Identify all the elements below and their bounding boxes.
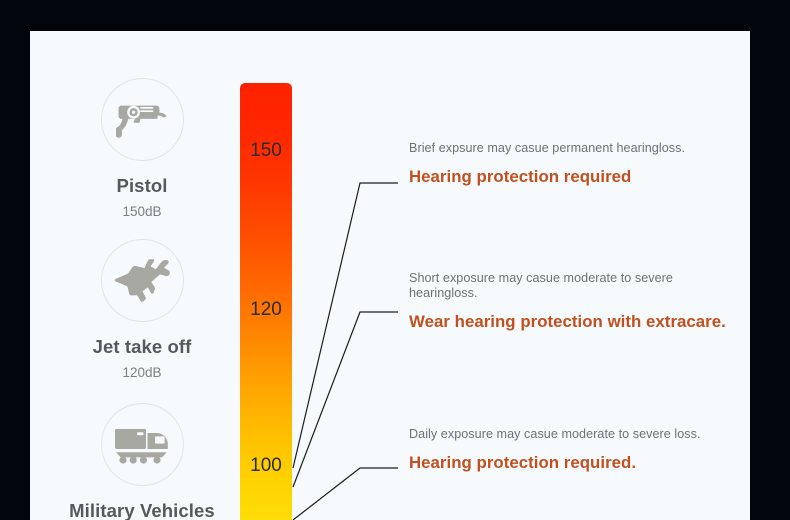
callout-item: Brief expsure may casue permanent hearin…: [409, 141, 739, 187]
callout-subtitle: Daily exposure may casue moderate to sev…: [409, 427, 739, 442]
callout-headline: Hearing protection required: [409, 167, 739, 187]
infographic-card: Pistol 150dB Jet take off 120dB: [30, 31, 750, 520]
callout-item: Short exposure may casue moderate to sev…: [409, 271, 739, 332]
callout-list: Brief expsure may casue permanent hearin…: [30, 31, 750, 520]
callout-subtitle: Short exposure may casue moderate to sev…: [409, 271, 739, 301]
callout-item: Daily exposure may casue moderate to sev…: [409, 427, 739, 473]
callout-headline: Hearing protection required.: [409, 453, 739, 473]
page-root: Pistol 150dB Jet take off 120dB: [0, 0, 790, 520]
callout-headline: Wear hearing protection with extracare.: [409, 312, 739, 332]
callout-subtitle: Brief expsure may casue permanent hearin…: [409, 141, 739, 156]
